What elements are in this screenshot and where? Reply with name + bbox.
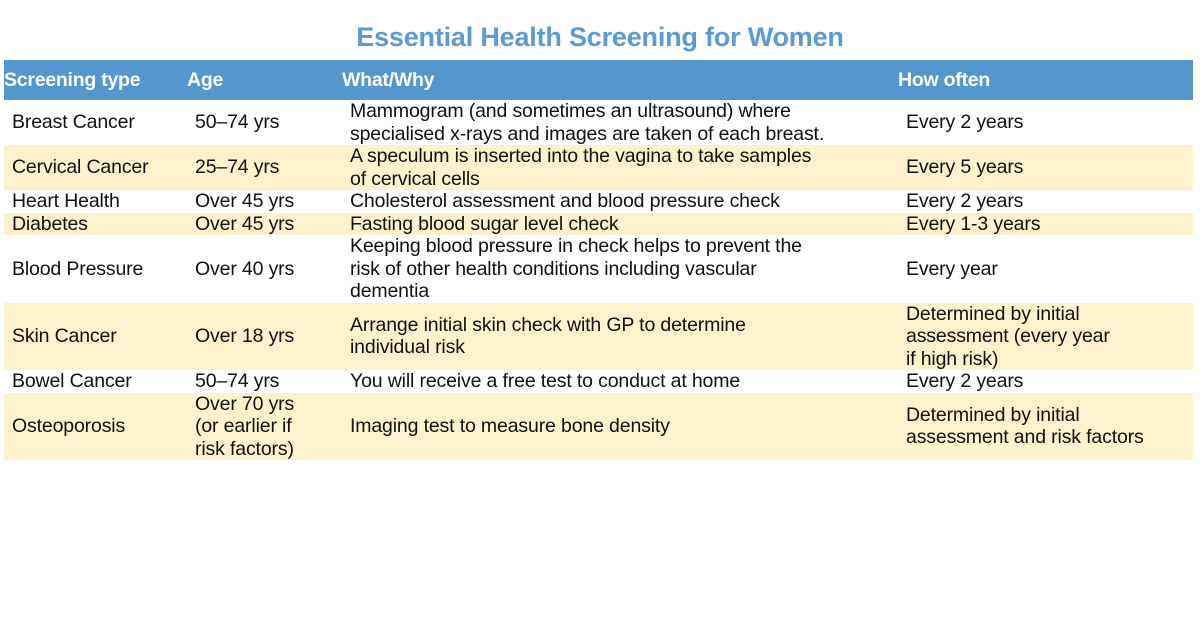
cell-age: 50–74 yrs: [187, 100, 342, 145]
cell-what-why: Keeping blood pressure in check helps to…: [342, 235, 898, 303]
table-body: Breast Cancer50–74 yrsMammogram (and som…: [4, 100, 1193, 460]
cell-screening-type: Blood Pressure: [4, 235, 187, 303]
cell-what-why: Cholesterol assessment and blood pressur…: [342, 190, 898, 213]
table-header: Screening type Age What/Why How often: [4, 60, 1193, 100]
cell-how-often: Every 2 years: [898, 190, 1193, 213]
cell-screening-type: Osteoporosis: [4, 393, 187, 461]
cell-how-often: Every 2 years: [898, 370, 1193, 393]
table-row: Breast Cancer50–74 yrsMammogram (and som…: [4, 100, 1193, 145]
cell-screening-type: Heart Health: [4, 190, 187, 213]
cell-how-often: Determined by initial assessment (every …: [898, 303, 1193, 371]
table-row: Skin CancerOver 18 yrsArrange initial sk…: [4, 303, 1193, 371]
cell-screening-type: Cervical Cancer: [4, 145, 187, 190]
cell-age: Over 18 yrs: [187, 303, 342, 371]
cell-how-often: Every 2 years: [898, 100, 1193, 145]
cell-how-often: Every 1-3 years: [898, 213, 1193, 236]
cell-what-why: Arrange initial skin check with GP to de…: [342, 303, 898, 371]
cell-age: Over 45 yrs: [187, 213, 342, 236]
table-row: Bowel Cancer50–74 yrsYou will receive a …: [4, 370, 1193, 393]
cell-screening-type: Skin Cancer: [4, 303, 187, 371]
table-row: DiabetesOver 45 yrsFasting blood sugar l…: [4, 213, 1193, 236]
cell-how-often: Every 5 years: [898, 145, 1193, 190]
cell-screening-type: Breast Cancer: [4, 100, 187, 145]
cell-age: Over 45 yrs: [187, 190, 342, 213]
cell-how-often: Determined by initial assessment and ris…: [898, 393, 1193, 461]
cell-what-why: Fasting blood sugar level check: [342, 213, 898, 236]
cell-age: Over 70 yrs (or earlier if risk factors): [187, 393, 342, 461]
table-row: Heart HealthOver 45 yrsCholesterol asses…: [4, 190, 1193, 213]
cell-what-why: Imaging test to measure bone density: [342, 393, 898, 461]
cell-what-why: You will receive a free test to conduct …: [342, 370, 898, 393]
cell-age: Over 40 yrs: [187, 235, 342, 303]
health-screening-table: Screening type Age What/Why How often Br…: [4, 60, 1193, 460]
cell-age: 25–74 yrs: [187, 145, 342, 190]
table-header-row: Screening type Age What/Why How often: [4, 60, 1193, 100]
cell-what-why: A speculum is inserted into the vagina t…: [342, 145, 898, 190]
infographic-page: Essential Health Screening for Women Scr…: [0, 0, 1200, 624]
cell-age: 50–74 yrs: [187, 370, 342, 393]
column-header-screening-type: Screening type: [4, 60, 187, 100]
column-header-age: Age: [187, 60, 342, 100]
table-row: OsteoporosisOver 70 yrs (or earlier if r…: [4, 393, 1193, 461]
cell-what-why: Mammogram (and sometimes an ultrasound) …: [342, 100, 898, 145]
column-header-what-why: What/Why: [342, 60, 898, 100]
table-row: Cervical Cancer25–74 yrsA speculum is in…: [4, 145, 1193, 190]
cell-screening-type: Diabetes: [4, 213, 187, 236]
cell-screening-type: Bowel Cancer: [4, 370, 187, 393]
column-header-how-often: How often: [898, 60, 1193, 100]
table-row: Blood PressureOver 40 yrsKeeping blood p…: [4, 235, 1193, 303]
cell-how-often: Every year: [898, 235, 1193, 303]
page-title: Essential Health Screening for Women: [0, 20, 1200, 54]
